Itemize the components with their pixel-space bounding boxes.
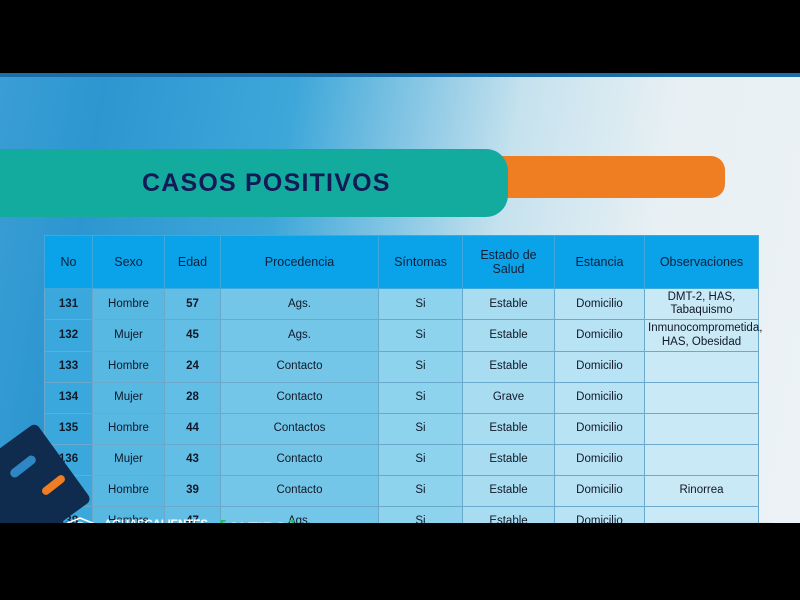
cell-observaciones (645, 413, 759, 444)
cell-sintomas: Si (379, 289, 463, 320)
column-header-no: No (45, 236, 93, 289)
cell-edad: 44 (165, 413, 221, 444)
column-header-observaciones: Observaciones (645, 236, 759, 289)
bracket-left-icon: [ (219, 519, 225, 523)
cell-estado-salud: Estable (463, 444, 555, 475)
cases-table: No Sexo Edad Procedencia Síntomas Estado… (44, 235, 759, 523)
cell-observaciones: Rinorrea (645, 475, 759, 506)
cell-procedencia: Contacto (221, 382, 379, 413)
cell-sintomas: Si (379, 444, 463, 475)
cell-edad: 39 (165, 475, 221, 506)
column-header-sintomas: Síntomas (379, 236, 463, 289)
cell-estado-salud: Estable (463, 289, 555, 320)
cell-edad: 28 (165, 382, 221, 413)
cell-sexo: Hombre (93, 413, 165, 444)
cell-estancia: Domicilio (555, 320, 645, 351)
logo-group-left: AGUASCALIENTES GOBIERNO DEL ESTADO Conti… (62, 517, 297, 523)
cell-sintomas: Si (379, 382, 463, 413)
cell-estado-salud: Estable (463, 413, 555, 444)
cell-no: 135 (45, 413, 93, 444)
table-row: 135Hombre44ContactosSiEstableDomicilio (45, 413, 759, 444)
cell-procedencia: Contacto (221, 475, 379, 506)
cell-sintomas: Si (379, 475, 463, 506)
table-body: 131Hombre57Ags.SiEstableDomicilioDMT-2, … (45, 289, 759, 524)
cell-observaciones (645, 382, 759, 413)
cell-estado-salud: Estable (463, 506, 555, 523)
cell-sexo: Mujer (93, 444, 165, 475)
title-banner: CASOS POSITIVOS (0, 149, 508, 217)
column-header-estado-salud: Estado de Salud (463, 236, 555, 289)
cell-sexo: Hombre (93, 289, 165, 320)
column-header-procedencia: Procedencia (221, 236, 379, 289)
orange-accent-bar (470, 156, 725, 198)
cell-estado-salud: Estable (463, 475, 555, 506)
cell-sintomas: Si (379, 506, 463, 523)
table-row: 133Hombre24ContactoSiEstableDomicilio (45, 351, 759, 382)
cell-estancia: Domicilio (555, 444, 645, 475)
cell-sexo: Mujer (93, 320, 165, 351)
cell-observaciones: Inmunocomprometida, HAS, Obesidad (645, 320, 759, 351)
cell-estancia: Domicilio (555, 382, 645, 413)
page-title: CASOS POSITIVOS (142, 169, 391, 198)
column-header-sexo: Sexo (93, 236, 165, 289)
cell-sintomas: Si (379, 351, 463, 382)
cell-estancia: Domicilio (555, 506, 645, 523)
cell-estado-salud: Estable (463, 351, 555, 382)
table-row: 132Mujer45Ags.SiEstableDomicilioInmunoco… (45, 320, 759, 351)
cell-edad: 57 (165, 289, 221, 320)
cell-observaciones: DMT-2, HAS, Tabaquismo (645, 289, 759, 320)
cell-sintomas: Si (379, 320, 463, 351)
table-row: 137Hombre39ContactoSiEstableDomicilioRin… (45, 475, 759, 506)
state-name-label: AGUASCALIENTES (104, 520, 208, 523)
table-head: No Sexo Edad Procedencia Síntomas Estado… (45, 236, 759, 289)
slide-top-strip (0, 73, 800, 77)
table-header-row: No Sexo Edad Procedencia Síntomas Estado… (45, 236, 759, 289)
cell-estancia: Domicilio (555, 413, 645, 444)
table-row: 131Hombre57Ags.SiEstableDomicilioDMT-2, … (45, 289, 759, 320)
cell-estancia: Domicilio (555, 475, 645, 506)
altiro-top-row: [ ALTIRO ] (219, 519, 295, 523)
aguascalientes-wordmark: AGUASCALIENTES GOBIERNO DEL ESTADO Conti… (104, 520, 208, 523)
altiro-word-label: ALTIRO (228, 520, 287, 523)
column-header-estancia: Estancia (555, 236, 645, 289)
cell-sexo: Hombre (93, 351, 165, 382)
cell-edad: 45 (165, 320, 221, 351)
cell-edad: 24 (165, 351, 221, 382)
cell-observaciones (645, 506, 759, 523)
cell-estancia: Domicilio (555, 289, 645, 320)
cell-procedencia: Contacto (221, 351, 379, 382)
table-row: 134Mujer28ContactoSiGraveDomicilio (45, 382, 759, 413)
cell-no: 134 (45, 382, 93, 413)
cell-sintomas: Si (379, 413, 463, 444)
cell-no: 131 (45, 289, 93, 320)
presentation-slide: CASOS POSITIVOS No Sexo Edad Procedencia… (0, 73, 800, 523)
cell-observaciones (645, 444, 759, 475)
cell-sexo: Mujer (93, 382, 165, 413)
cell-edad: 43 (165, 444, 221, 475)
cell-estancia: Domicilio (555, 351, 645, 382)
cell-no: 133 (45, 351, 93, 382)
cell-no: 132 (45, 320, 93, 351)
column-header-edad: Edad (165, 236, 221, 289)
altiro-logo: [ ALTIRO ] ANTE CORONAVIRUS (218, 519, 297, 523)
cell-estado-salud: Estable (463, 320, 555, 351)
table-row: 136Mujer43ContactoSiEstableDomicilio (45, 444, 759, 475)
screenshot-stage: CASOS POSITIVOS No Sexo Edad Procedencia… (0, 0, 800, 600)
cell-procedencia: Contactos (221, 413, 379, 444)
cell-procedencia: Contacto (221, 444, 379, 475)
cell-procedencia: Ags. (221, 289, 379, 320)
cell-estado-salud: Grave (463, 382, 555, 413)
cell-observaciones (645, 351, 759, 382)
cases-table-container: No Sexo Edad Procedencia Síntomas Estado… (44, 235, 758, 523)
bracket-right-icon: ] (289, 519, 295, 523)
cell-procedencia: Ags. (221, 320, 379, 351)
cell-sexo: Hombre (93, 475, 165, 506)
